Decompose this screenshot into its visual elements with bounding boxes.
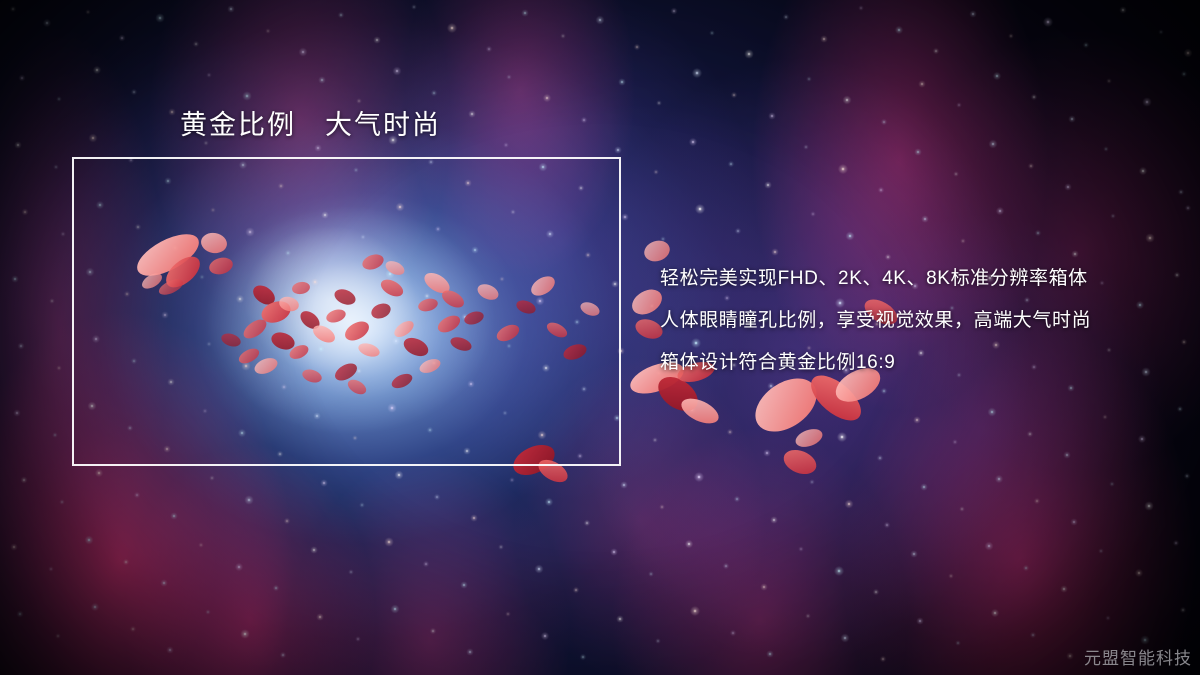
petal [449,335,474,354]
petal [418,356,443,375]
petal [401,334,431,359]
petal [199,231,228,255]
petal [301,367,324,385]
petal [252,355,279,377]
petal [345,377,368,397]
image-frame-panel [72,157,621,466]
petal [578,300,601,319]
petal [515,298,538,316]
petal [780,445,820,478]
petal [360,252,385,273]
petal [463,309,486,327]
petal [494,321,522,344]
petal [342,318,373,345]
page-title: 黄金比例 大气时尚 [180,103,441,142]
petal [389,371,414,391]
petal [378,276,406,300]
body-line-3: 箱体设计符合黄金比例16:9 [660,342,1091,384]
body-text-block: 轻松完美实现FHD、2K、4K、8K标准分辨率箱体 人体眼睛瞳孔比例，享受视觉效… [660,258,1091,384]
petal [392,318,417,340]
petal [793,426,825,451]
petal [207,255,234,277]
floating-petals-inside-frame [74,159,619,464]
petal [417,297,439,314]
petal [357,341,382,359]
petal [220,331,243,349]
body-line-1: 轻松完美实现FHD、2K、4K、8K标准分辨率箱体 [660,258,1091,300]
petal [435,312,463,336]
petal [528,272,559,299]
petal [325,307,348,325]
body-line-2: 人体眼睛瞳孔比例，享受视觉效果，高端大气时尚 [660,300,1091,342]
presentation-slide: 黄金比例 大气时尚 轻松完美实现FHD、2K、4K、8K标准分辨率箱体 人体眼睛… [0,0,1200,675]
petal [544,320,569,341]
petal [369,301,393,321]
petal [475,281,501,303]
watermark: 元盟智能科技 [1084,644,1192,669]
petal [291,281,311,296]
petal [332,286,358,307]
petal [561,341,588,362]
petal [383,258,406,277]
petal [678,393,723,428]
